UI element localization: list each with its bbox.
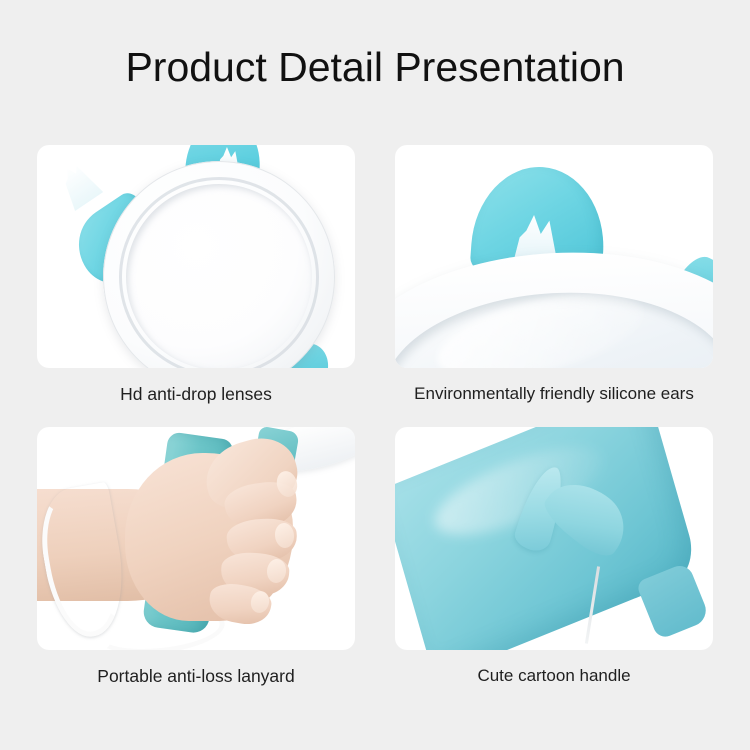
lens-rim xyxy=(108,166,331,368)
detail-panel-lens: Hd anti-drop lenses xyxy=(37,145,355,403)
caption-lanyard: Portable anti-loss lanyard xyxy=(37,666,355,687)
page-title: Product Detail Presentation xyxy=(0,44,750,91)
detail-panel-lanyard: Portable anti-loss lanyard xyxy=(37,427,355,685)
photo-lanyard xyxy=(37,427,355,650)
caption-ears: Environmentally friendly silicone ears xyxy=(395,384,713,404)
photo-handle xyxy=(395,427,713,650)
detail-panel-ears: Environmentally friendly silicone ears xyxy=(395,145,713,403)
lens-ring xyxy=(90,148,349,368)
silicone-ear-left-inner-icon xyxy=(53,159,104,211)
photo-ears xyxy=(395,145,713,368)
photo-lens xyxy=(37,145,355,368)
caption-lens: Hd anti-drop lenses xyxy=(37,384,355,405)
caption-handle: Cute cartoon handle xyxy=(395,666,713,686)
product-detail-grid: Hd anti-drop lenses Environmentally frie… xyxy=(37,145,713,715)
detail-panel-handle: Cute cartoon handle xyxy=(395,427,713,685)
